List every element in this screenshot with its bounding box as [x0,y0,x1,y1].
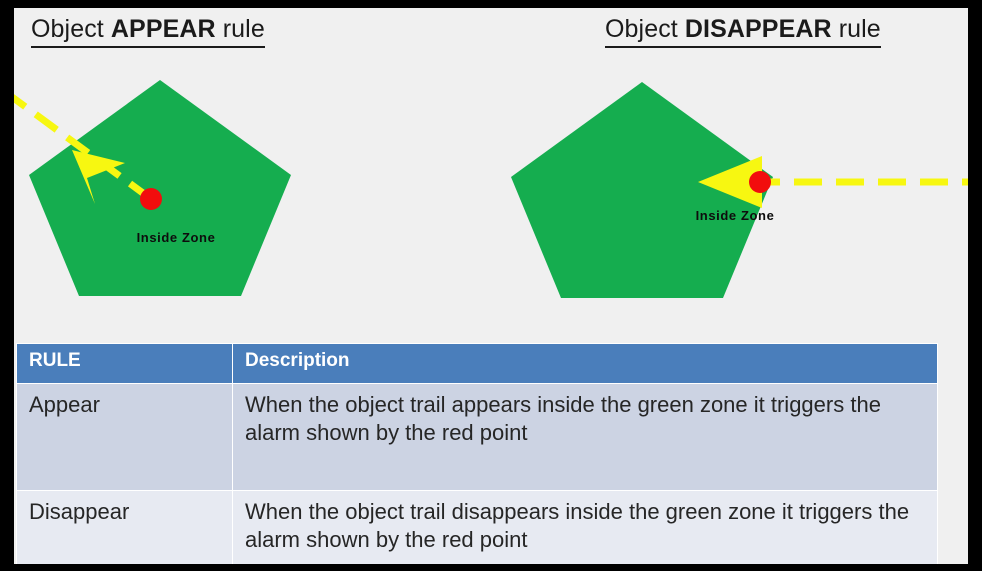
green-zone-pentagon [29,80,291,296]
column-header-description: Description [233,344,938,384]
diagram-appear-zone: Inside Zone [14,8,494,338]
disappear-zone-graphic [494,8,968,338]
rules-table-body: Appear When the object trail appears ins… [17,384,938,565]
slide-canvas: Object APPEAR rule Object DISAPPEAR rule [14,8,968,564]
slide: Object APPEAR rule Object DISAPPEAR rule [0,0,982,571]
appear-zone-graphic [14,8,494,338]
column-header-rule: RULE [17,344,233,384]
inside-zone-label: Inside Zone [696,208,775,223]
table-row: Appear When the object trail appears ins… [17,384,938,491]
cell-rule-name: Appear [17,384,233,491]
red-alarm-point [140,188,162,210]
diagram-disappear-zone: Inside Zone [494,8,968,338]
table-row: Disappear When the object trail disappea… [17,491,938,565]
rules-table-head: RULE Description [17,344,938,384]
inside-zone-label: Inside Zone [137,230,216,245]
cell-rule-name: Disappear [17,491,233,565]
rules-table: RULE Description Appear When the object … [16,343,938,564]
cell-rule-description: When the object trail disappears inside … [233,491,938,565]
cell-rule-description: When the object trail appears inside the… [233,384,938,491]
table-header-row: RULE Description [17,344,938,384]
red-alarm-point [749,171,771,193]
